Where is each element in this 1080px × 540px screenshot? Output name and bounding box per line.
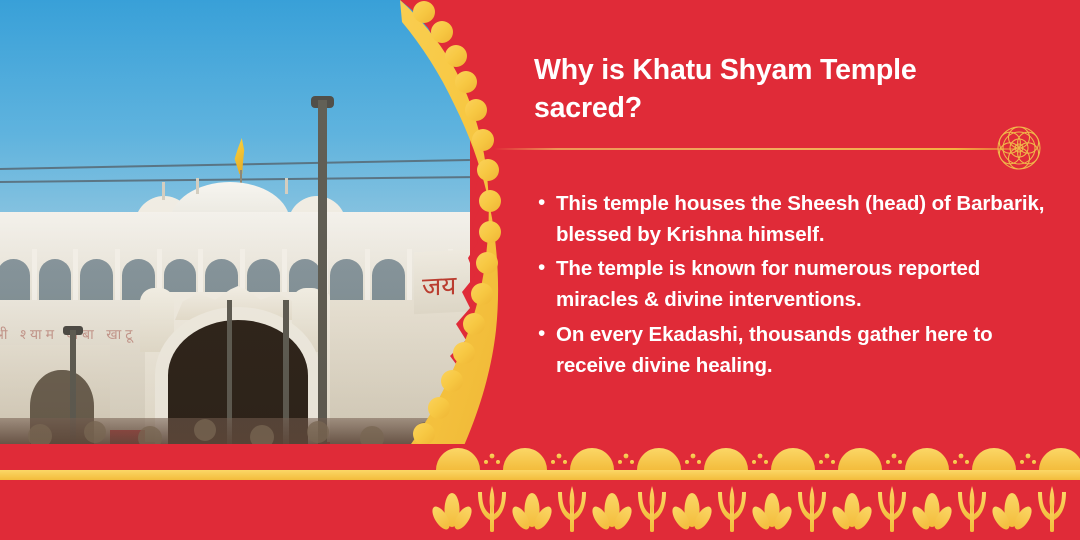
dome-finial (285, 178, 288, 194)
title-line-2: sacred? (534, 92, 642, 124)
colonnade-arch (0, 249, 32, 307)
poster-canvas: श्री श्याम बाबा खाटू श्याम जय (0, 0, 1080, 540)
mandala-rosette-icon (988, 117, 1050, 179)
list-item: • On every Ekadashi, thousands gather he… (534, 319, 1064, 381)
title-divider-rule (494, 148, 1018, 150)
bullet-marker-icon: • (534, 319, 556, 349)
list-item: • The temple is known for numerous repor… (534, 253, 1064, 315)
bullet-marker-icon: • (534, 188, 556, 218)
list-item: • This temple houses the Sheesh (head) o… (534, 188, 1064, 250)
gateway-kiosk (140, 288, 174, 352)
colonnade-arch (73, 249, 115, 307)
list-item-text: This temple houses the Sheesh (head) of … (556, 188, 1048, 250)
bullet-marker-icon: • (534, 253, 556, 283)
title-line-1: Why is Khatu Shyam Temple (534, 54, 916, 86)
colonnade-arch (32, 249, 74, 307)
list-item-text: The temple is known for numerous reporte… (556, 253, 1048, 315)
list-item-text: On every Ekadashi, thousands gather here… (556, 319, 1048, 381)
bullet-list: • This temple houses the Sheesh (head) o… (534, 188, 1064, 384)
dome-finial (162, 182, 165, 200)
page-title: Why is Khatu Shyam Temple sacred? (534, 52, 974, 128)
dome-finial (196, 178, 199, 194)
bottom-decorative-border (0, 444, 1080, 540)
